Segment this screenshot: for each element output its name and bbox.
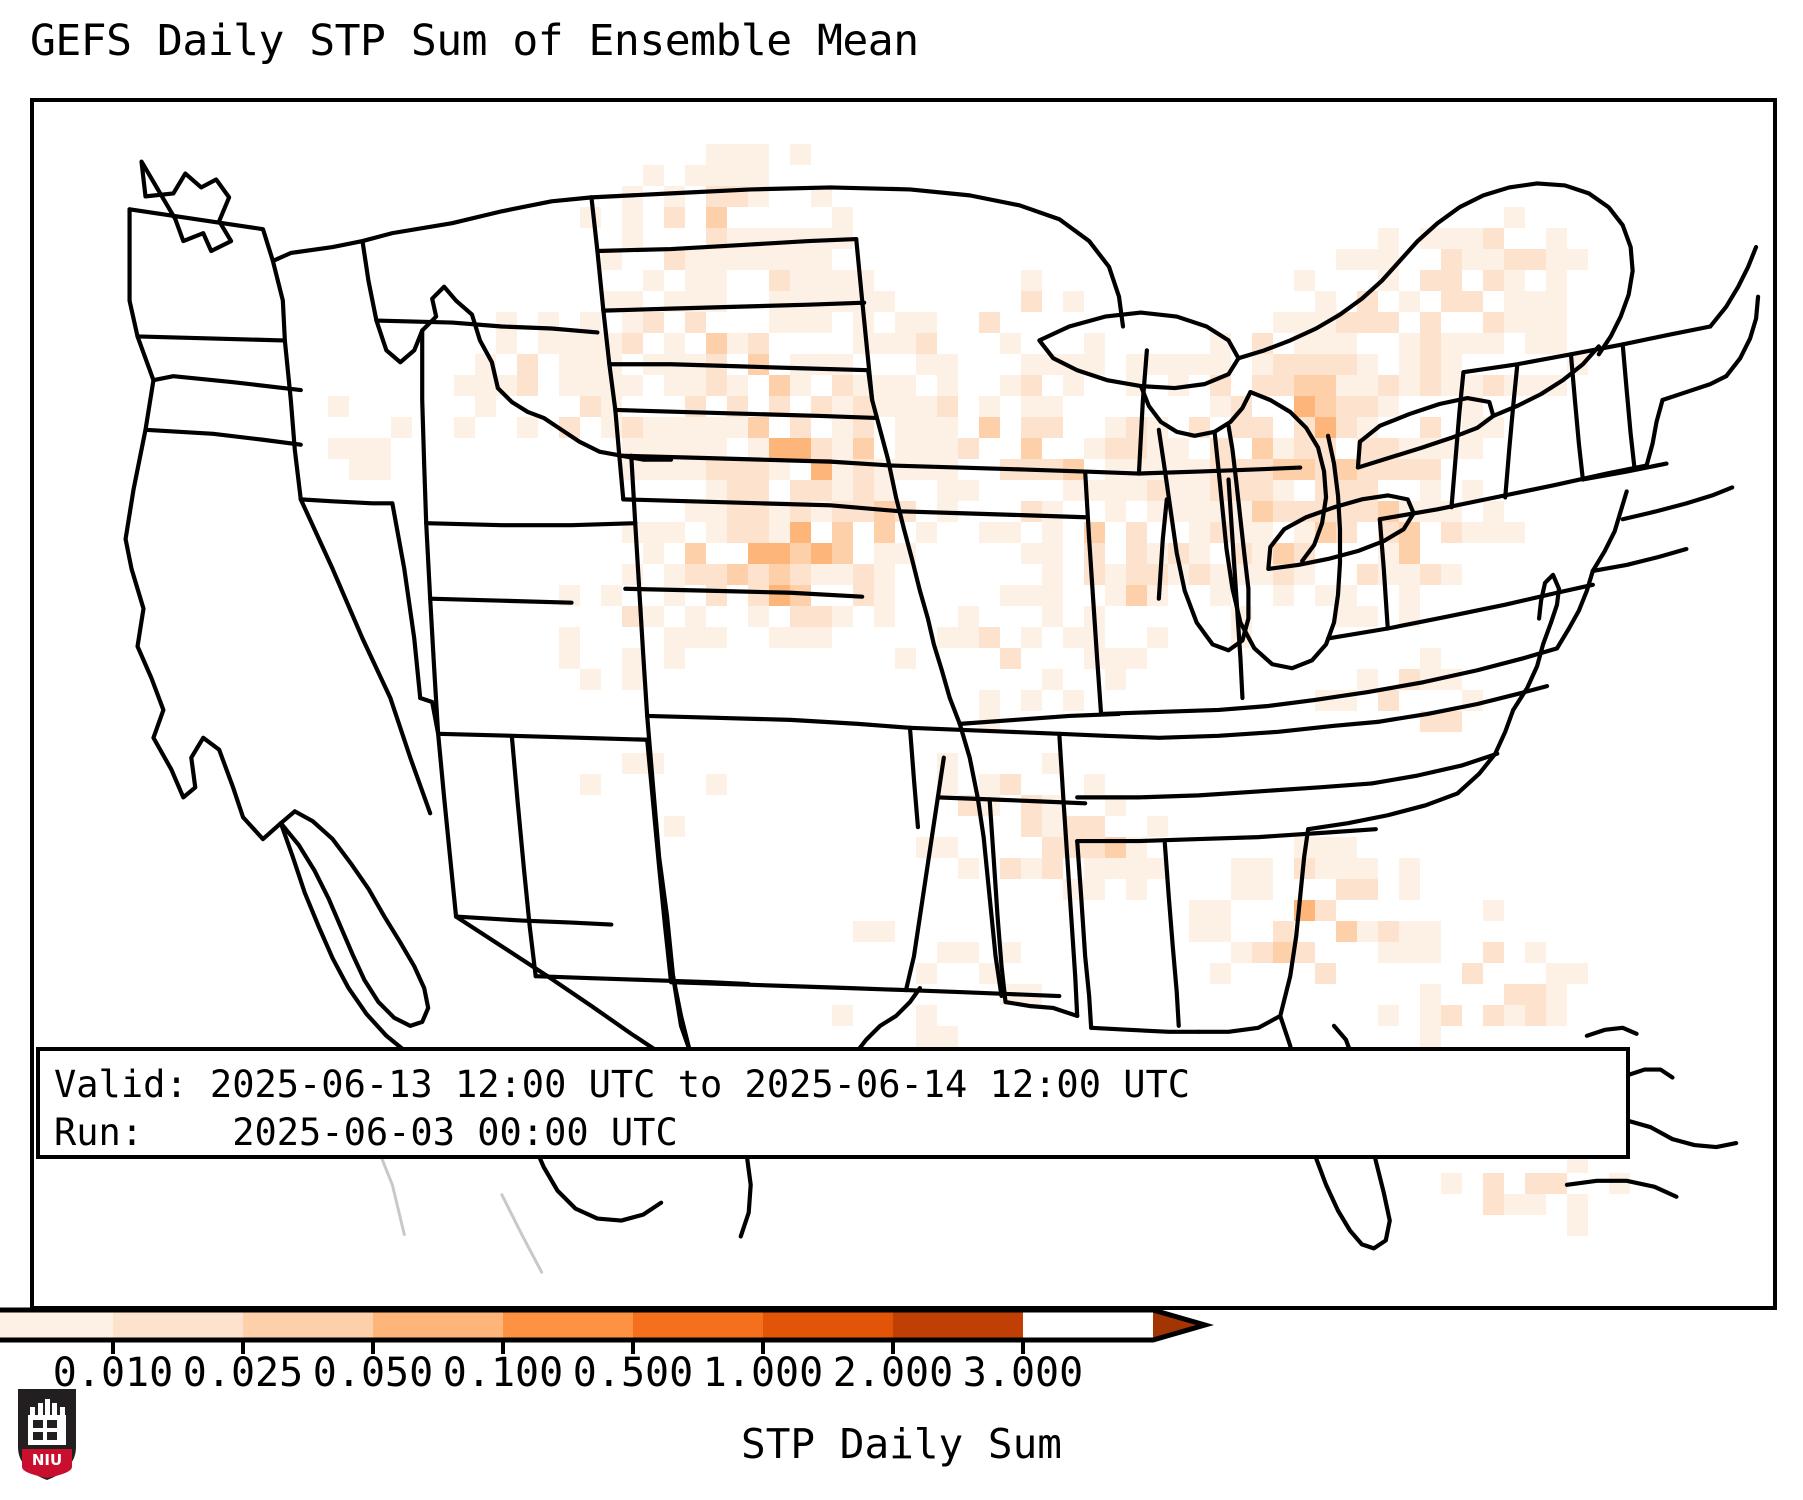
colorbar-tick-label: 0.500 (573, 1350, 693, 1396)
niu-logo: NIU (14, 1385, 80, 1483)
valid-time-line: Valid: 2025-06-13 12:00 UTC to 2025-06-1… (54, 1061, 1612, 1109)
colorbar-segment (893, 1310, 1023, 1340)
colorbar-segment (243, 1310, 373, 1340)
colorbar-tick-label: 1.000 (703, 1350, 823, 1396)
colorbar-segment (633, 1310, 763, 1340)
colorbar-segment (373, 1310, 503, 1340)
niu-logo-text: NIU (32, 1451, 62, 1469)
annotation-box: Valid: 2025-06-13 12:00 UTC to 2025-06-1… (36, 1047, 1630, 1159)
colorbar-tick-label: 0.100 (443, 1350, 563, 1396)
colorbar-segment (113, 1310, 243, 1340)
colorbar-segment (0, 1310, 113, 1340)
colorbar-tick-label: 2.000 (833, 1350, 953, 1396)
run-time-line: Run: 2025-06-03 00:00 UTC (54, 1109, 1612, 1157)
page-title: GEFS Daily STP Sum of Ensemble Mean (30, 16, 919, 66)
colorbar-segment (503, 1310, 633, 1340)
colorbar-tick-label: 0.050 (313, 1350, 433, 1396)
colorbar-tick-labels: 0.0100.0250.0500.1000.5001.0002.0003.000 (0, 1350, 1803, 1410)
colorbar-title: STP Daily Sum (0, 1420, 1803, 1468)
colorbar-segments (0, 1310, 1205, 1340)
colorbar-tick-label: 3.000 (963, 1350, 1083, 1396)
colorbar-segment (763, 1310, 893, 1340)
colorbar-tick-label: 0.025 (183, 1350, 303, 1396)
